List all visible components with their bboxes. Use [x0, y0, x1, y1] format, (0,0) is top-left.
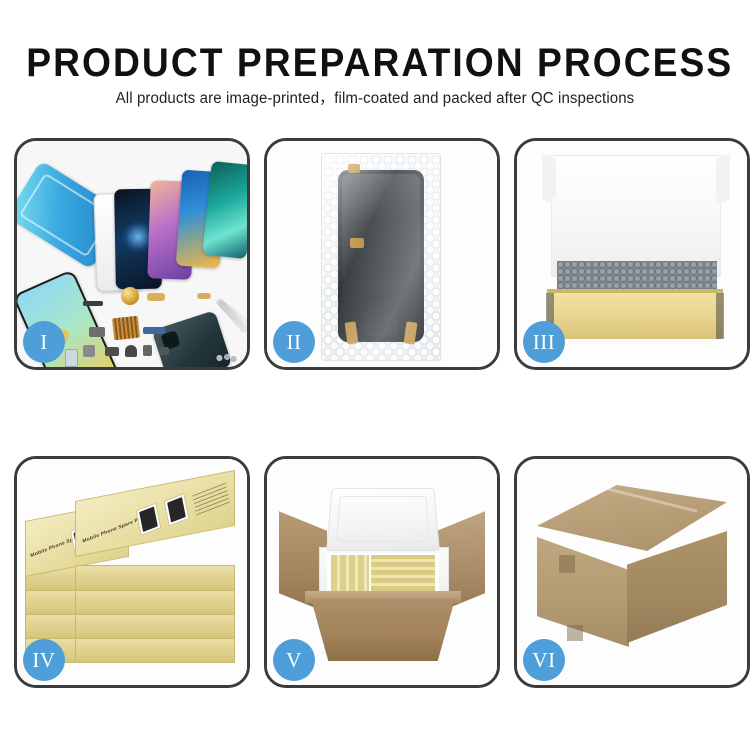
stacked-box [75, 565, 235, 591]
small-part [159, 347, 169, 355]
stacked-box [75, 589, 235, 615]
box-spec-lines [192, 482, 230, 516]
process-step-1[interactable]: I [14, 138, 250, 370]
small-part [83, 345, 95, 357]
page-title: PRODUCT PREPARATION PROCESS [26, 40, 724, 86]
flex-cable-part [143, 327, 165, 334]
small-part [143, 345, 152, 356]
screws-group [215, 353, 237, 363]
wrapped-screen-assembly [338, 170, 424, 342]
small-part [147, 293, 165, 301]
process-step-4[interactable]: Mobile Phone Spare Parts Mobile Phone Sp… [14, 456, 250, 688]
yellow-box-front [547, 293, 723, 339]
box-window-right [164, 493, 190, 527]
step-badge-6: VI [523, 639, 565, 681]
process-step-grid: I II [0, 138, 750, 698]
process-step-3[interactable]: III [514, 138, 750, 370]
carton-body [311, 599, 455, 661]
process-step-2[interactable]: II [264, 138, 500, 370]
foam-cooler-lid [326, 488, 440, 551]
carton-left-face [537, 537, 629, 647]
box-stack-right: Mobile Phone Spare Parts [75, 501, 235, 671]
small-part [83, 301, 103, 306]
step-badge-4: IV [23, 639, 65, 681]
bubble-wrap-bag [321, 153, 441, 361]
step-badge-2: II [273, 321, 315, 363]
stacked-box [75, 613, 235, 639]
small-part [89, 327, 105, 337]
small-part [105, 347, 119, 356]
small-part [125, 345, 137, 357]
white-foam-sheet [553, 197, 717, 263]
carton-tape-patch [559, 555, 575, 573]
page-header: PRODUCT PREPARATION PROCESS All products… [0, 0, 750, 122]
step-badge-3: III [523, 321, 565, 363]
packed-boxes-left [331, 555, 369, 591]
stacked-box [75, 637, 235, 663]
tape-strip [350, 238, 364, 248]
copper-coil-part [121, 287, 139, 305]
chip-grid-part [112, 316, 140, 341]
step-badge-1: I [23, 321, 65, 363]
carton-tape-patch [567, 625, 583, 641]
step-badge-5: V [273, 639, 315, 681]
process-step-5[interactable]: V [264, 456, 500, 688]
process-step-6[interactable]: VI [514, 456, 750, 688]
small-part [197, 293, 211, 299]
stacked-box-top: Mobile Phone Spare Parts [75, 470, 235, 557]
packed-boxes-right [371, 555, 435, 591]
tape-strip [348, 164, 360, 173]
page-subtitle: All products are image-printed，film-coat… [11, 88, 739, 110]
screen-flex-cable [364, 296, 398, 336]
box-window-left [136, 502, 162, 536]
small-part [65, 349, 78, 367]
